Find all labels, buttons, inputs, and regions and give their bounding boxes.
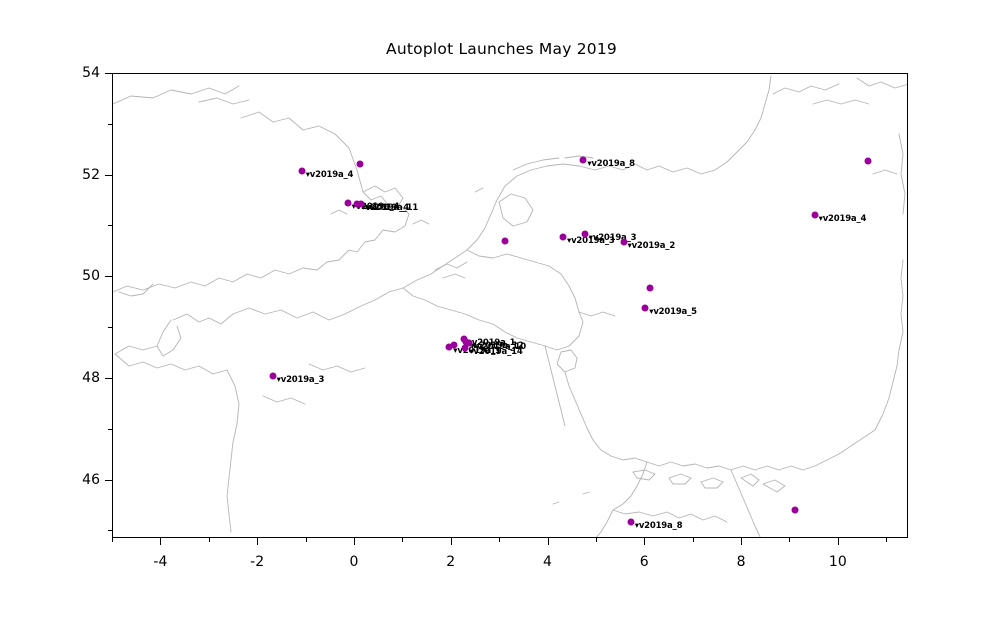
scatter-point [462,345,469,352]
x-tick [838,538,839,545]
x-tick-label: 10 [829,554,847,570]
scatter-point [356,161,363,168]
x-tick [160,538,161,545]
scatter-point-label: ▾v2019a_4 [306,170,354,180]
x-tick [741,538,742,545]
y-tick-label: 50 [62,268,100,284]
x-tick-label: -4 [153,554,167,570]
x-tick [644,538,645,545]
scatter-point [864,158,871,165]
figure-canvas: Autoplot Launches May 2019 [0,0,1003,633]
x-tick [693,538,694,542]
scatter-point [357,201,364,208]
x-tick-label: 8 [737,554,746,570]
x-tick [209,538,210,542]
scatter-point [627,519,634,526]
y-tick [105,480,112,481]
y-tick [108,429,112,430]
y-tick [108,124,112,125]
y-tick [105,378,112,379]
x-tick-label: 0 [349,554,358,570]
scatter-point [647,285,654,292]
scatter-point-label: ▾v2019a_4 [819,214,867,224]
y-tick [105,276,112,277]
scatter-point [298,167,305,174]
x-tick [451,538,452,545]
x-tick [596,538,597,542]
x-tick [886,538,887,542]
scatter-point-label: ▾v2019a_8 [587,159,635,169]
x-tick [548,538,549,545]
scatter-point [792,507,799,514]
x-tick [354,538,355,545]
scatter-point-label: ▾v2019a_11 [365,203,418,213]
scatter-point [269,373,276,380]
x-tick [112,538,113,542]
x-tick [257,538,258,545]
scatter-point [501,237,508,244]
y-tick [108,225,112,226]
scatter-point [620,238,627,245]
scatter-point [642,304,649,311]
y-tick [108,327,112,328]
scatter-point [344,199,351,206]
scatter-point-label: ▾v2019a_8 [635,521,683,531]
x-tick [499,538,500,542]
scatter-point [811,211,818,218]
scatter-point-label: ▾v2019a_14 [469,347,522,357]
scatter-point-label: ▾v2019a_3 [277,375,325,385]
y-tick [105,175,112,176]
y-tick-label: 48 [62,370,100,386]
x-tick-label: -2 [250,554,264,570]
plot-area: ▾v2019a_4▾v2019a_4▾v2019a_4▾v2019a_11▾v2… [112,73,908,538]
scatter-point [581,231,588,238]
y-tick [108,530,112,531]
scatter-points-layer: ▾v2019a_4▾v2019a_4▾v2019a_4▾v2019a_11▾v2… [113,74,908,538]
x-tick [789,538,790,542]
x-tick [306,538,307,542]
scatter-point [560,233,567,240]
x-tick-label: 6 [640,554,649,570]
scatter-point-label: ▾v2019a_5 [649,307,697,317]
chart-title: Autoplot Launches May 2019 [0,40,1003,58]
x-tick [402,538,403,542]
x-tick-label: 4 [543,554,552,570]
y-tick-label: 54 [62,65,100,81]
scatter-point [451,342,458,349]
scatter-point [580,157,587,164]
x-tick-label: 2 [446,554,455,570]
y-tick-label: 52 [62,167,100,183]
y-tick [105,73,112,74]
scatter-point-label: ▾v2019a_2 [628,241,676,251]
y-tick-label: 46 [62,472,100,488]
